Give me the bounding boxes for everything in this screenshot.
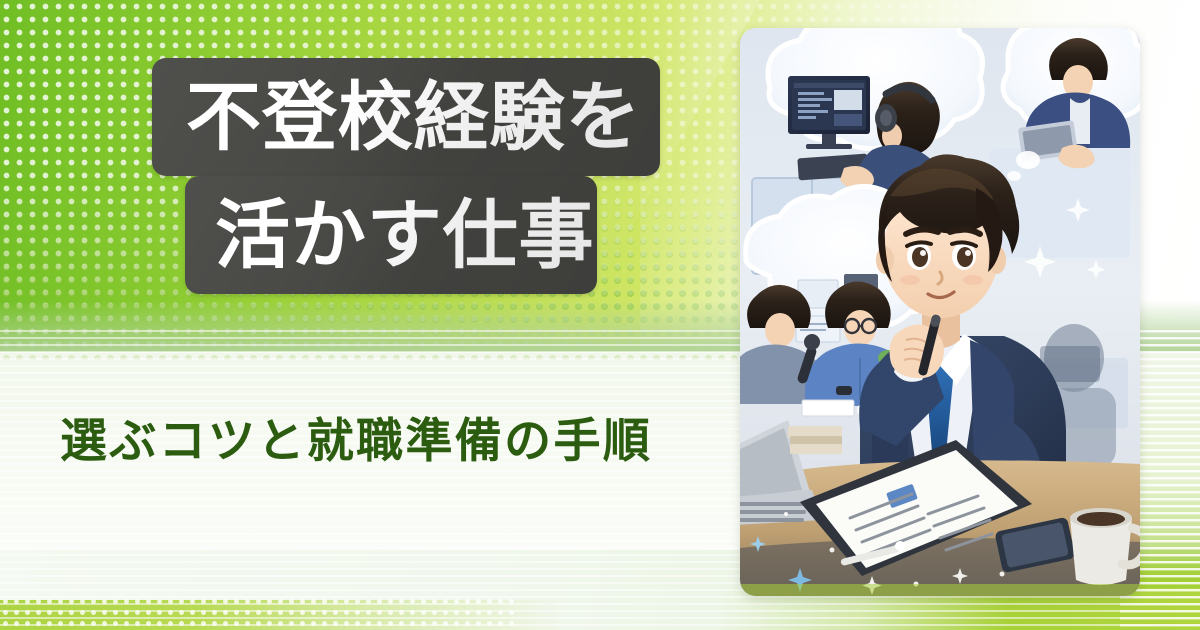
- headline-line-2-text: 活かす仕事: [215, 198, 594, 273]
- headline-line-1-box: 不登校経験を: [152, 58, 660, 176]
- eyecatch-canvas: 不登校経験を 活かす仕事 選ぶコツと就職準備の手順: [0, 0, 1200, 630]
- headline-line-1-text: 不登校経験を: [186, 80, 641, 155]
- subtitle-text: 選ぶコツと就職準備の手順: [60, 418, 652, 465]
- headline-group: 不登校経験を 活かす仕事: [0, 0, 700, 300]
- dot-pattern-bottom-left: [0, 596, 520, 630]
- illustration-svg: [740, 28, 1140, 596]
- headline-line-2-box: 活かす仕事: [185, 176, 597, 294]
- hero-illustration: [740, 28, 1140, 596]
- illustration-body: [740, 28, 1140, 596]
